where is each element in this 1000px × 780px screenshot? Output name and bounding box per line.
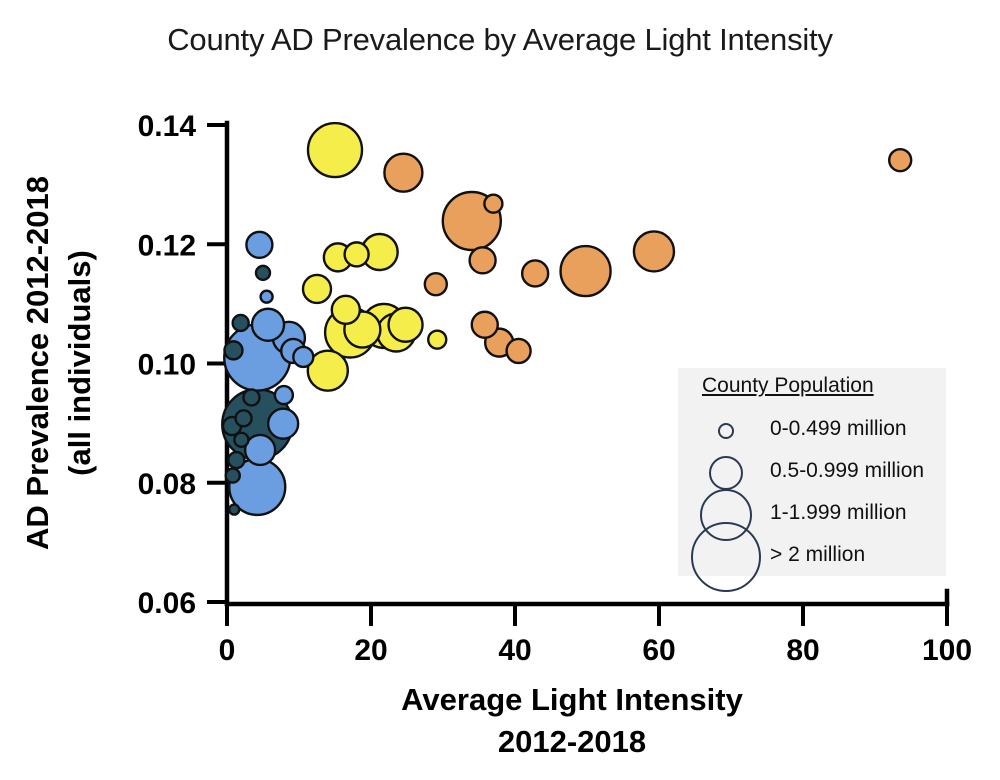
data-point-bubble (634, 231, 674, 271)
data-point-bubble (332, 296, 360, 324)
legend-item: 0-0.499 million (678, 408, 946, 450)
legend-item-label: 0.5-0.999 million (770, 459, 924, 483)
data-point-bubble (224, 341, 242, 359)
data-point-bubble (226, 469, 240, 483)
data-point-bubble (425, 273, 447, 295)
legend-title: County Population (702, 374, 874, 398)
data-point-bubble (889, 149, 911, 171)
data-point-bubble (261, 291, 273, 303)
y-axis-title-line1: AD Prevalence 2012-2018 (20, 176, 55, 550)
x-tick-label: 20 (354, 634, 387, 667)
x-tick-label: 40 (498, 634, 531, 667)
data-point-bubble (229, 505, 239, 515)
legend-item-label: > 2 million (770, 543, 865, 567)
y-axis-title-line2: (all individuals) (62, 250, 97, 476)
y-tick-label: 0.10 (138, 349, 196, 382)
legend-bubble-icon (709, 456, 743, 490)
data-point-bubble (252, 309, 284, 341)
data-point-bubble (233, 315, 249, 331)
x-tick-label: 100 (922, 634, 972, 667)
x-tick-label: 60 (642, 634, 675, 667)
data-point-bubble (256, 266, 270, 280)
y-tick-label: 0.12 (138, 229, 196, 262)
data-point-bubble (345, 242, 369, 266)
data-point-bubble (246, 232, 272, 258)
legend-item-label: 0-0.499 million (770, 417, 907, 441)
data-point-bubble (484, 195, 502, 213)
legend-item: 0.5-0.999 million (678, 450, 946, 492)
y-tick-label: 0.08 (138, 468, 196, 501)
y-axis-ticks: 0.060.080.100.120.14 (138, 110, 227, 620)
data-point-bubble (561, 246, 611, 296)
data-point-bubble (303, 275, 331, 303)
legend-item: > 2 million (678, 534, 946, 576)
data-point-bubble (293, 347, 313, 367)
data-point-bubble (245, 435, 275, 465)
data-point-bubble (236, 410, 252, 426)
x-axis-title-line2: 2012-2018 (498, 724, 646, 759)
data-point-bubble (428, 331, 446, 349)
y-tick-label: 0.06 (138, 587, 196, 620)
y-tick-label: 0.14 (138, 110, 197, 143)
x-axis-title-line1: Average Light Intensity (401, 682, 743, 717)
data-point-bubble (470, 247, 496, 273)
x-axis-ticks: 020406080100 (219, 604, 972, 667)
data-point-bubble (234, 433, 248, 447)
data-point-bubble (522, 260, 548, 286)
legend-item-label: 1-1.999 million (770, 501, 907, 525)
x-tick-label: 80 (786, 634, 819, 667)
data-point-bubble (268, 409, 298, 439)
data-point-bubble (228, 452, 244, 468)
data-point-bubble (384, 154, 422, 192)
legend-bubble-icon (718, 423, 734, 439)
x-tick-label: 0 (219, 634, 236, 667)
data-point-bubble (243, 389, 259, 405)
chart-canvas: County AD Prevalence by Average Light In… (0, 0, 1000, 780)
data-point-bubble (507, 339, 531, 363)
data-point-bubble (308, 123, 362, 177)
data-point-bubble (389, 308, 423, 342)
legend: County Population 0-0.499 million0.5-0.9… (678, 368, 946, 576)
legend-bubble-icon (691, 522, 761, 592)
data-point-bubble (472, 312, 498, 338)
data-point-bubble (275, 386, 293, 404)
